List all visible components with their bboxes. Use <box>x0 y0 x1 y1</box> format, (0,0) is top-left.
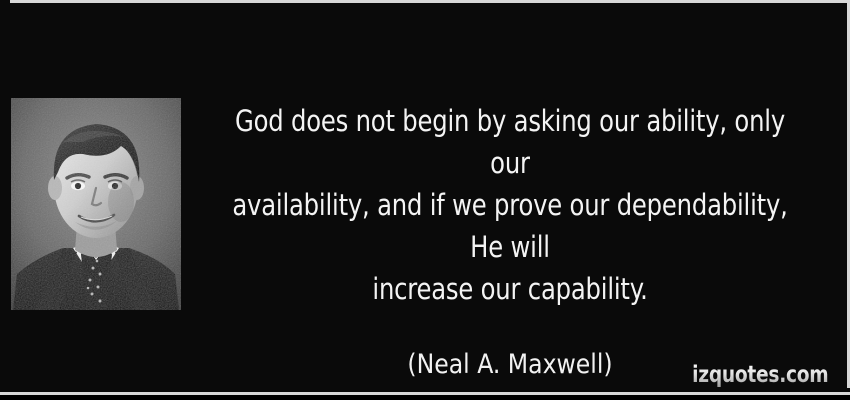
author-portrait-photo <box>11 98 181 310</box>
frame-border-top <box>10 0 850 3</box>
quote-line-2: availability, and if we prove our depend… <box>212 184 807 268</box>
quote-line-1: God does not begin by asking our ability… <box>212 100 807 184</box>
frame-bottom-fill <box>0 395 850 400</box>
izquotes-watermark[interactable]: izquotes.com <box>692 362 828 388</box>
quote-line-3: increase our capability. <box>212 268 807 310</box>
quote-text-block: God does not begin by asking our ability… <box>190 100 830 382</box>
quote-card: God does not begin by asking our ability… <box>0 0 850 400</box>
